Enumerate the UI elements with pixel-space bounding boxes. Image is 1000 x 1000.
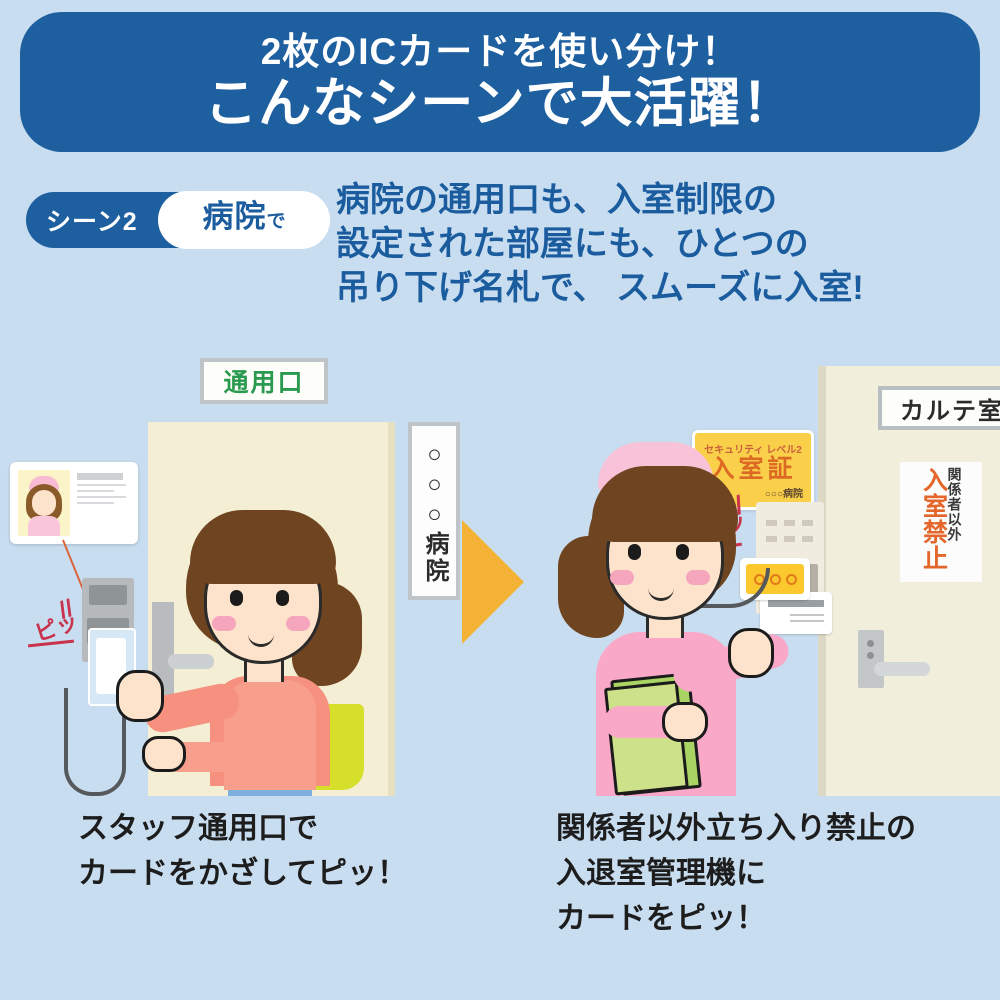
scene-chip-suffix: で [266,206,285,233]
infographic-page: 2枚のICカードを使い分け！ こんなシーンで大活躍！ シーン2 病院 で 病院の… [0,0,1000,1000]
caption-right: 関係者以外立ち入り禁止の 入退室管理機に カードをピッ！ [556,806,916,941]
staff-woman-figure [168,504,408,796]
nurse-figure [552,440,782,796]
scene-chip: 病院 で [158,191,330,249]
door-handle-right-icon [858,630,884,688]
no-entry-poster-big: 入室禁止 [921,467,946,571]
banner-line-2: こんなシーンで大活躍！ [204,76,795,132]
scene-chip-main: 病院 [202,191,266,236]
caption-right-line-3: カードをピッ！ [556,896,916,941]
illustration-band: 通用口 ○○○病院 ピッ// [0,340,1000,796]
caption-left-line-2: カードをかざしてピッ！ [78,851,407,896]
description-line-3: 吊り下げ名札で、 スムーズに入室! [336,266,996,310]
staff-id-card [10,462,138,544]
scene-number-label: シーン2 [46,202,138,238]
scene-description: 病院の通用口も、入室制限の 設定された部屋にも、ひとつの 吊り下げ名札で、 スム… [336,178,996,311]
description-line-2: 設定された部屋にも、ひとつの [336,222,996,266]
scene-badge: シーン2 病院 で [26,192,328,248]
caption-left: スタッフ通用口で カードをかざしてピッ！ [78,806,407,896]
id-photo [18,470,70,536]
entrance-sign: 通用口 [200,358,328,404]
caption-left-line-1: スタッフ通用口で [78,806,407,851]
room-name-sign: カルテ室 [878,386,1000,430]
caption-right-line-1: 関係者以外立ち入り禁止の [556,806,916,851]
description-line-1: 病院の通用口も、入室制限の [336,178,996,222]
no-entry-poster-small: 関係者以外 [948,467,962,542]
banner-line-1: 2枚のICカードを使い分け！ [261,33,740,72]
header-banner: 2枚のICカードを使い分け！ こんなシーンで大活躍！ [20,12,980,152]
id-card-text-lines [70,470,130,536]
hospital-name-sign: ○○○病院 [408,422,460,600]
no-entry-poster: 関係者以外 入室禁止 [900,462,982,582]
transition-arrow-icon [462,520,524,644]
caption-right-line-2: 入退室管理機に [556,851,916,896]
